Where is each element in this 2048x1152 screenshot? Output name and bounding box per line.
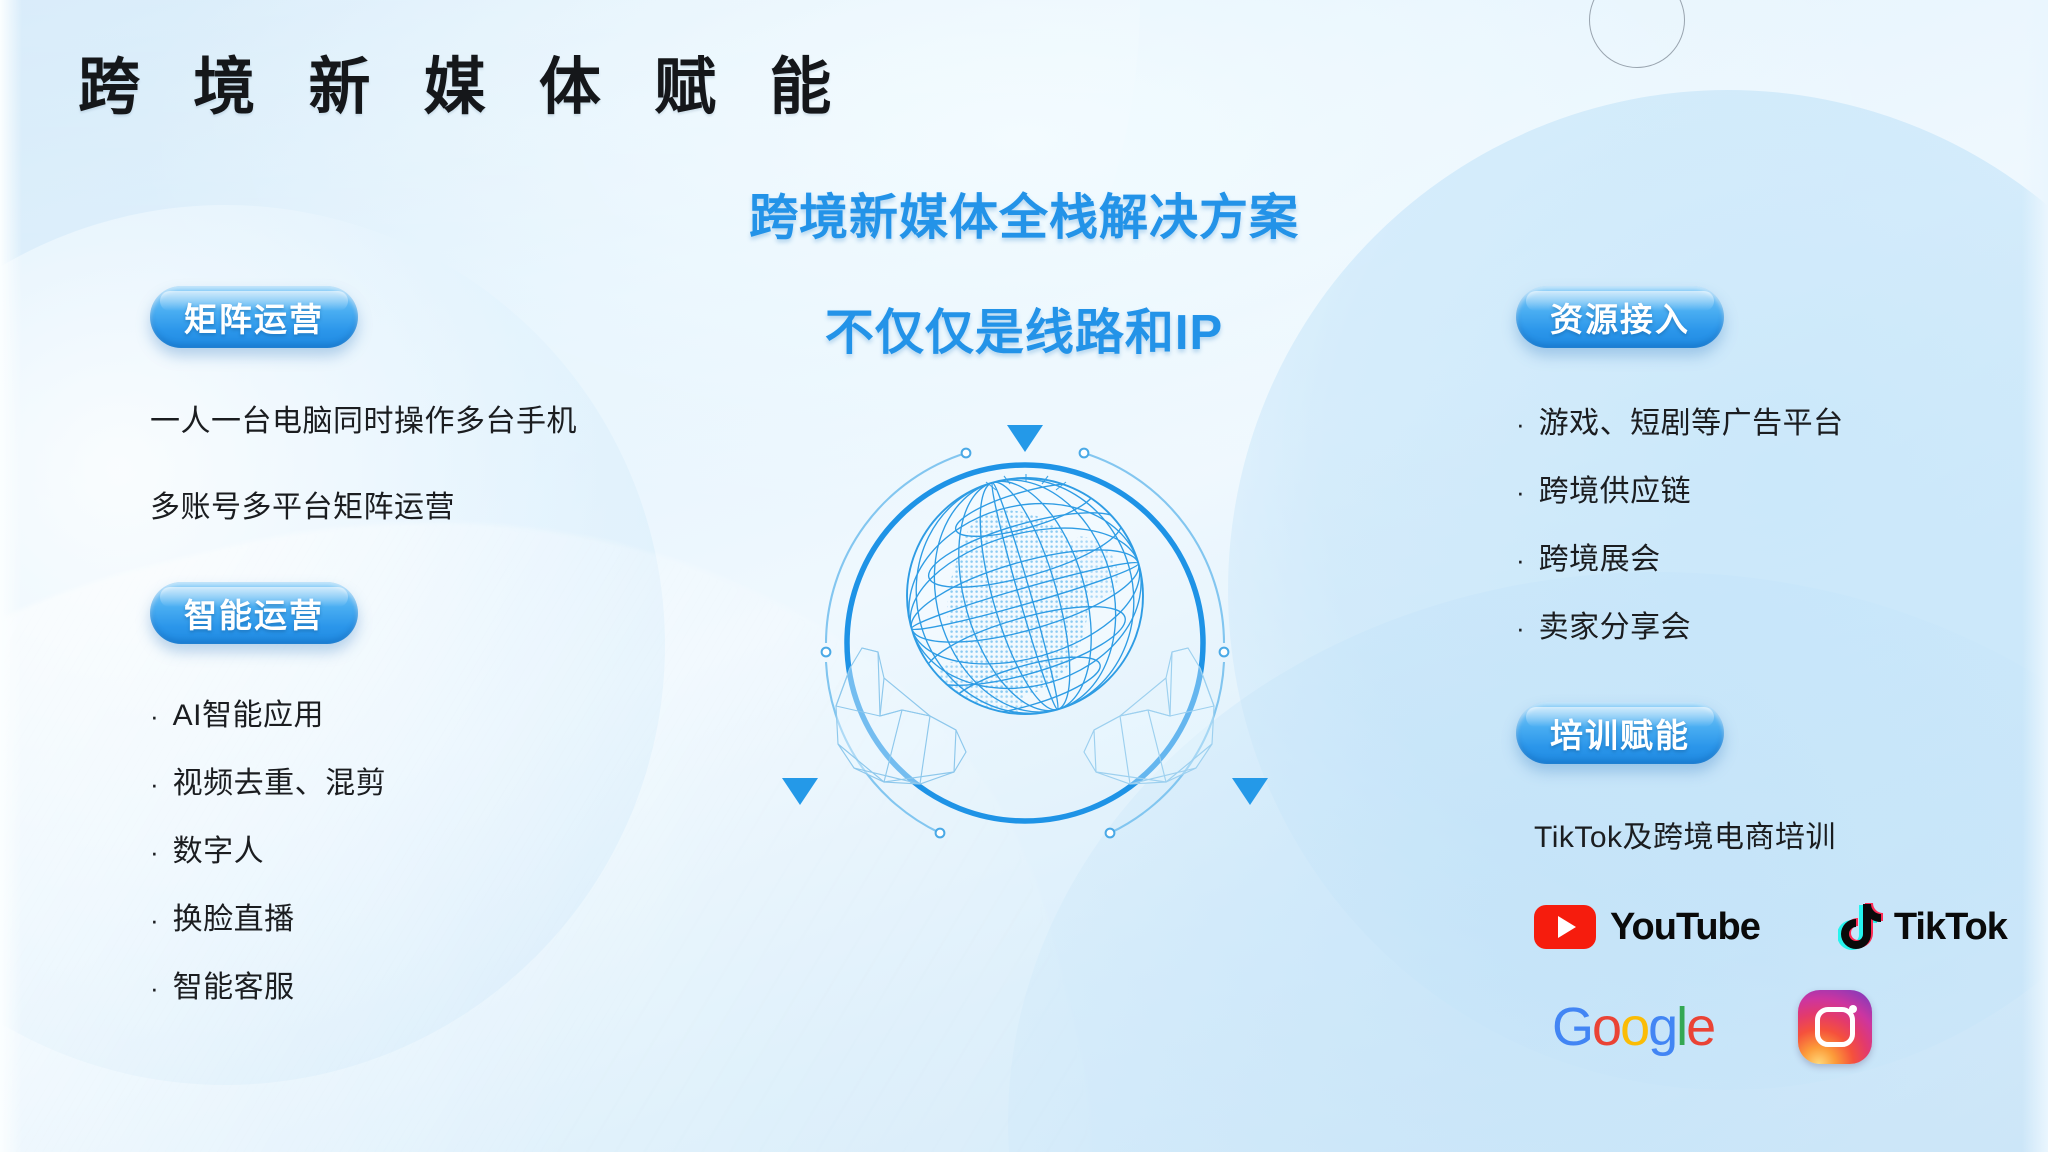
center-heading-line-2: 不仅仅是线路和IP: [640, 293, 1408, 364]
pill-resource-access[interactable]: 资源接入: [1516, 286, 1724, 348]
list-item-label: 卖家分享会: [1539, 602, 1692, 646]
list-item: · 卖家分享会: [1516, 602, 2036, 646]
left-line-1: 一人一台电脑同时操作多台手机: [150, 396, 710, 440]
list-item-label: 跨境展会: [1539, 534, 1661, 578]
google-logo: Google: [1552, 1000, 1714, 1054]
list-item-label: AI智能应用: [173, 690, 324, 734]
list-item-label: 游戏、短剧等广告平台: [1539, 398, 1844, 442]
instagram-logo: [1798, 990, 1872, 1064]
google-letter-g2: g: [1648, 997, 1676, 1057]
left-bullet-list: · AI智能应用 · 视频去重、混剪 · 数字人 · 换脸直播 · 智能客服: [150, 690, 710, 1006]
platform-logos: YouTube TikTok Google: [1516, 902, 2036, 1064]
pill-label: 资源接入: [1550, 293, 1690, 341]
list-item-label: 换脸直播: [173, 894, 295, 938]
google-letter-g1: G: [1552, 997, 1592, 1057]
right-line-1: TikTok及跨境电商培训: [1516, 812, 2036, 856]
google-letter-l: l: [1676, 997, 1686, 1057]
pill-training-empowerment[interactable]: 培训赋能: [1516, 702, 1724, 764]
google-letter-e: e: [1686, 997, 1714, 1057]
globe-in-hands-illustration: [780, 400, 1270, 870]
bullet-marker-icon: ·: [1516, 479, 1525, 505]
list-item: · 智能客服: [150, 962, 710, 1006]
left-column: 矩阵运营 一人一台电脑同时操作多台手机 多账号多平台矩阵运营 智能运营 · AI…: [150, 286, 710, 1006]
logo-row-bottom: Google: [1516, 990, 2036, 1064]
globe-illustration-svg: [780, 400, 1270, 870]
slide-content: 跨 境 新 媒 体 赋 能 跨境新媒体全栈解决方案 不仅仅是线路和IP: [0, 0, 2048, 1152]
right-column: 资源接入 · 游戏、短剧等广告平台 · 跨境供应链 · 跨境展会 · 卖家分享会: [1516, 286, 2036, 1064]
list-item: · 跨境展会: [1516, 534, 2036, 578]
center-heading-line-1: 跨境新媒体全栈解决方案: [640, 178, 1408, 249]
list-item-label: 数字人: [173, 826, 265, 870]
right-bullet-list: · 游戏、短剧等广告平台 · 跨境供应链 · 跨境展会 · 卖家分享会: [1516, 398, 2036, 646]
list-item-label: 视频去重、混剪: [173, 758, 387, 802]
pill-matrix-operations[interactable]: 矩阵运营: [150, 286, 358, 348]
bullet-marker-icon: ·: [1516, 615, 1525, 641]
list-item: · 视频去重、混剪: [150, 758, 710, 802]
list-item: · 跨境供应链: [1516, 466, 2036, 510]
pill-label: 培训赋能: [1550, 709, 1690, 757]
google-letter-o1: o: [1592, 997, 1620, 1057]
tiktok-note-icon: [1838, 902, 1884, 952]
list-item: · 数字人: [150, 826, 710, 870]
youtube-logo: YouTube: [1534, 905, 1760, 949]
google-letter-o2: o: [1620, 997, 1648, 1057]
pill-label: 智能运营: [184, 589, 324, 637]
tiktok-wordmark: TikTok: [1894, 906, 2007, 949]
page-title: 跨 境 新 媒 体 赋 能: [78, 36, 849, 126]
bullet-marker-icon: ·: [150, 771, 159, 797]
pill-label: 矩阵运营: [184, 293, 324, 341]
instagram-lens-icon: [1815, 1007, 1855, 1047]
list-item-label: 智能客服: [173, 962, 295, 1006]
list-item: · AI智能应用: [150, 690, 710, 734]
list-item: · 换脸直播: [150, 894, 710, 938]
center-heading: 跨境新媒体全栈解决方案 不仅仅是线路和IP: [640, 178, 1408, 364]
bullet-marker-icon: ·: [1516, 547, 1525, 573]
pill-smart-operations[interactable]: 智能运营: [150, 582, 358, 644]
youtube-wordmark: YouTube: [1610, 906, 1760, 949]
list-item: · 游戏、短剧等广告平台: [1516, 398, 2036, 442]
left-line-2: 多账号多平台矩阵运营: [150, 482, 710, 526]
bullet-marker-icon: ·: [150, 839, 159, 865]
youtube-play-icon: [1534, 905, 1596, 949]
logo-row-top: YouTube TikTok: [1516, 902, 2036, 952]
bullet-marker-icon: ·: [150, 703, 159, 729]
bullet-marker-icon: ·: [150, 907, 159, 933]
bullet-marker-icon: ·: [150, 975, 159, 1001]
tiktok-logo: TikTok: [1838, 902, 2007, 952]
instagram-dot-icon: [1849, 1005, 1857, 1013]
list-item-label: 跨境供应链: [1539, 466, 1692, 510]
bullet-marker-icon: ·: [1516, 411, 1525, 437]
